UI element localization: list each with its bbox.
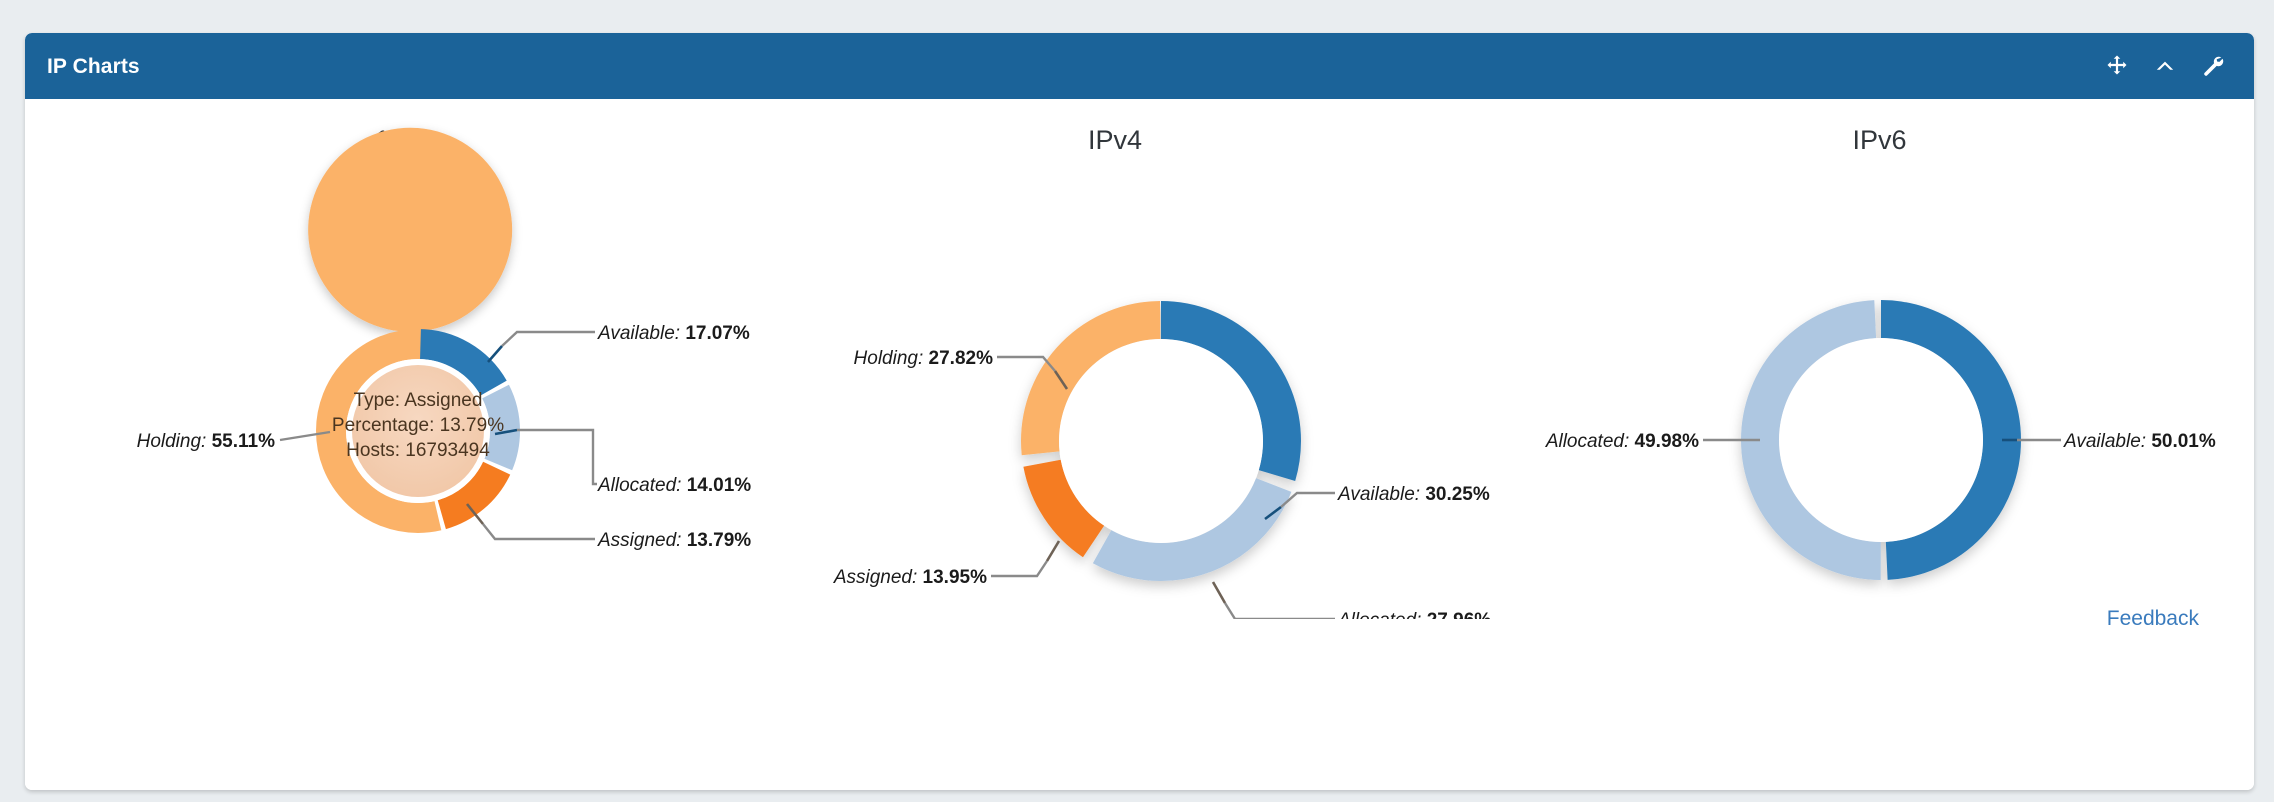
chart-ipv6: IPv6 — [1505, 99, 2254, 619]
callout-assigned: Assigned: 13.95% — [833, 541, 1059, 588]
callout-available: Available: 17.07% — [488, 323, 750, 362]
callout-holding-value: 55.11% — [212, 431, 275, 452]
callout-available-text: Available: 50.01% — [2063, 431, 2216, 452]
chevron-up-icon[interactable] — [2152, 53, 2178, 79]
chart-ipv4: IPv4 — [725, 99, 1505, 619]
callout-available-name: Available — [1337, 484, 1415, 505]
tooltip-line-hosts: Hosts: 16793494 — [346, 440, 490, 461]
callout-assigned-value: 13.95% — [923, 567, 988, 588]
chart-1918: 1918 — [25, 99, 785, 599]
slice-holding[interactable] — [308, 128, 512, 332]
callout-allocated-value: 27.96% — [1427, 610, 1492, 619]
callout-assigned: Assigned: 13.79% — [467, 504, 751, 551]
callout-available: Available: 30.25% — [1265, 484, 1490, 519]
header-tools — [2104, 53, 2226, 79]
callout-assigned-text: Assigned: 13.95% — [833, 567, 987, 588]
panel-header: IP Charts — [25, 33, 2254, 99]
callout-holding-name: Holding — [854, 348, 919, 369]
callout-available-text: Available: 30.25% — [1337, 484, 1490, 505]
callout-allocated: Allocated: 49.98% — [1545, 431, 1760, 452]
callout-allocated-text: Allocated: 49.98% — [1545, 431, 1699, 452]
callout-holding-name: Holding — [137, 431, 202, 452]
callout-available-value: 30.25% — [1425, 484, 1490, 505]
wrench-icon[interactable] — [2200, 53, 2226, 79]
callout-allocated-name: Allocated — [597, 475, 678, 496]
page-title: IP Charts — [47, 56, 140, 77]
feedback-link[interactable]: Feedback — [2107, 607, 2199, 631]
callout-allocated-text: Allocated: 27.96% — [1337, 610, 1491, 619]
center-tooltip-text: Type: Assigned Percentage: 13.79% Hosts:… — [332, 390, 504, 461]
callout-holding: Holding: 55.11% — [137, 431, 330, 452]
callout-holding-text: Holding: 27.82% — [854, 348, 994, 369]
callout-holding-value: 27.82% — [929, 348, 994, 369]
tooltip-line-percentage: Percentage: 13.79% — [332, 415, 504, 436]
callout-assigned-name: Assigned — [597, 530, 678, 551]
donut-chart-ipv6[interactable]: Available: 50.01% Allocated: 49.98% — [1505, 99, 2254, 619]
charts-row: 1918 — [25, 99, 2254, 619]
ip-charts-panel: IP Charts 1918 — [25, 33, 2254, 790]
donut-hole — [1059, 339, 1263, 543]
callout-available: Available: 50.01% — [2002, 431, 2216, 452]
donut-chart-1918[interactable]: Type: Assigned Percentage: 13.79% Hosts:… — [25, 99, 785, 599]
callout-available-name: Available — [2063, 431, 2141, 452]
callout-holding-text: Holding: 55.11% — [137, 431, 275, 452]
callout-allocated-name: Allocated — [1337, 610, 1418, 619]
donut-hole — [1779, 338, 1983, 542]
panel-body: 1918 — [25, 99, 2254, 790]
callout-allocated: Allocated: 14.01% — [495, 430, 751, 496]
callout-allocated-name: Allocated — [1545, 431, 1626, 452]
donut-chart-ipv4[interactable]: Available: 30.25% Allocated: 27.96% — [725, 99, 1505, 619]
callout-assigned-name: Assigned — [833, 567, 914, 588]
callout-available-name: Available — [597, 323, 675, 344]
callout-allocated: Allocated: 27.96% — [1213, 582, 1491, 619]
tooltip-line-type: Type: Assigned — [354, 390, 483, 411]
callout-allocated-value: 49.98% — [1635, 431, 1700, 452]
callout-available-value: 50.01% — [2151, 431, 2216, 452]
move-icon[interactable] — [2104, 53, 2130, 79]
